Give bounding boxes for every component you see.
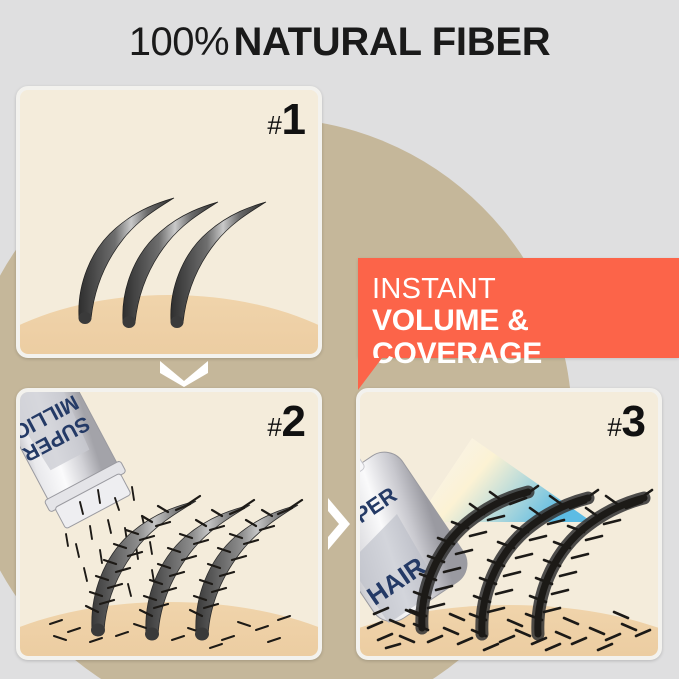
infographic-canvas: 100% NATURAL FIBER (0, 0, 679, 679)
step-number-1: 1 (282, 95, 306, 144)
chevron-down-icon (160, 361, 208, 387)
connector-chevron-down (152, 357, 216, 387)
step-number-2: 2 (282, 397, 306, 446)
step-number-3: 3 (622, 397, 646, 446)
step-hash-3: # (607, 412, 621, 442)
step-panel-3: SUPER HAIR (356, 388, 662, 660)
callout-tail-shape (358, 358, 382, 390)
chevron-right-icon (328, 498, 350, 550)
page-title-main: NATURAL FIBER (233, 20, 550, 64)
page-title-percent: 100% (129, 20, 229, 64)
step-hash-2: # (267, 412, 281, 442)
callout-text-block: INSTANT VOLUME & COVERAGE (372, 274, 679, 370)
step-hash-1: # (267, 110, 281, 140)
connector-chevron-right (322, 492, 356, 556)
step-badge-1: #1 (267, 98, 306, 142)
callout-line-2: VOLUME & COVERAGE (372, 305, 679, 370)
callout-line-1: INSTANT (372, 274, 679, 305)
instant-volume-callout: INSTANT VOLUME & COVERAGE (358, 258, 679, 358)
step-panel-2: SUPER MILLION (16, 388, 322, 660)
step-panel-1: #1 (16, 86, 322, 358)
step-badge-3: #3 (607, 400, 646, 444)
page-title: 100% NATURAL FIBER (0, 22, 679, 62)
step-badge-2: #2 (267, 400, 306, 444)
